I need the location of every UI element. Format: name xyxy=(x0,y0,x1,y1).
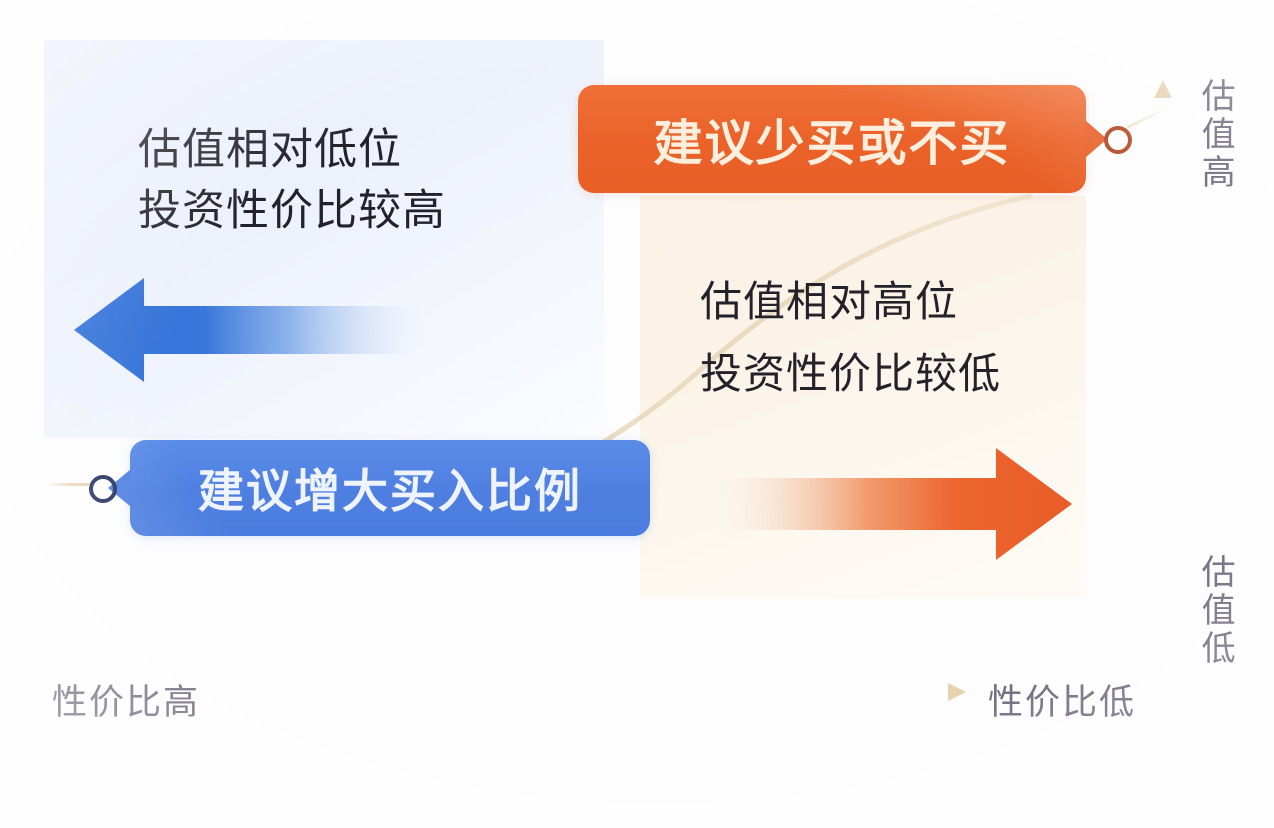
high-valuation-line-1: 估值相对高位 xyxy=(700,266,1001,338)
axis-label-cost-performance-high: 性价比高 xyxy=(52,674,200,725)
axis-label-valuation-high: 估值高 xyxy=(1196,78,1234,192)
sell-callout-connector xyxy=(1126,109,1163,129)
sell-callout-marker xyxy=(1104,126,1132,154)
sell-callout-label: 建议少买或不买 xyxy=(653,104,1010,175)
buy-callout-marker xyxy=(89,475,117,503)
diagram-canvas: 估值相对低位 投资性价比较高 估值相对高位 投资性价比较低 建议少买或不买 建议… xyxy=(0,0,1274,828)
low-valuation-line-1: 估值相对低位 xyxy=(138,120,446,181)
axis-label-valuation-low: 估值低 xyxy=(1196,554,1234,668)
high-valuation-copy: 估值相对高位 投资性价比较低 xyxy=(700,266,1001,410)
low-valuation-line-2: 投资性价比较高 xyxy=(138,181,446,242)
buy-callout-connector xyxy=(46,483,90,486)
low-valuation-copy: 估值相对低位 投资性价比较高 xyxy=(138,120,446,242)
axis-label-cost-performance-low: 性价比低 xyxy=(988,674,1136,725)
high-valuation-line-2: 投资性价比较低 xyxy=(700,338,1001,410)
buy-callout-label: 建议增大买入比例 xyxy=(198,455,582,521)
sell-callout-button[interactable]: 建议少买或不买 xyxy=(578,85,1086,193)
buy-callout-button[interactable]: 建议增大买入比例 xyxy=(130,440,650,536)
